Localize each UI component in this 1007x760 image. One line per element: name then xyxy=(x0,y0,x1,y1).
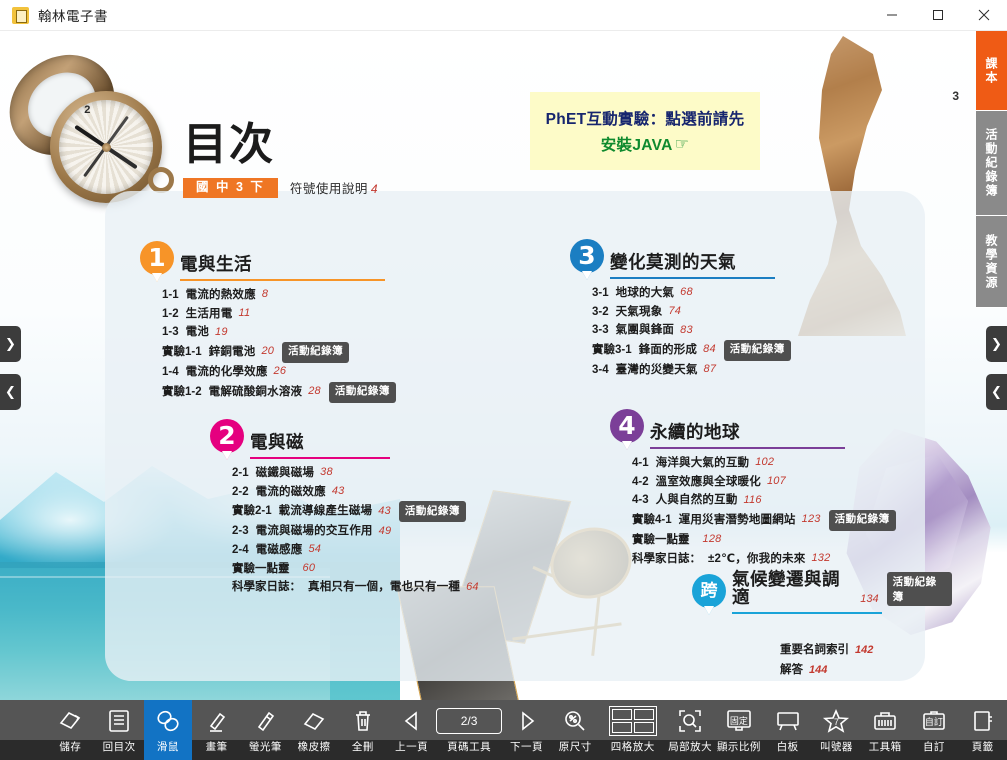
toc-entry-number: 4-1 xyxy=(632,454,649,473)
toc-entry[interactable]: 2-4電磁感應54 xyxy=(232,541,540,560)
chapter-heading: 3變化莫測的天氣 xyxy=(570,239,870,273)
toolbar-button-display-ratio[interactable]: 固定顯示比例 xyxy=(715,700,764,760)
toolbar-button-bookmark-tab[interactable]: 頁籤 xyxy=(958,700,1007,760)
toc-entry-number: 1-2 xyxy=(162,305,179,324)
toc-entry-page: 28 xyxy=(308,383,321,401)
toc-entry-title: 磁鐵與磁場 xyxy=(256,464,315,483)
toc-entry[interactable]: 3-3氣團與鋒面83 xyxy=(592,321,870,340)
toc-entry-title: 地球的大氣 xyxy=(616,284,675,303)
bottom-toolbar: 儲存回目次滑鼠畫筆螢光筆橡皮擦全刪上一頁2/3頁碼工具下一頁原尺寸四格放大局部放… xyxy=(0,700,1007,760)
chapter-number-badge: 2 xyxy=(210,419,244,453)
toc-entry-number: 科學家日誌： xyxy=(632,550,701,569)
toc-entry[interactable]: 實驗4-1運用災害潛勢地圖網站123活動紀錄簿 xyxy=(632,510,940,531)
display-ratio-icon: 固定 xyxy=(725,706,753,736)
toc-entry-page: 87 xyxy=(704,361,717,379)
toolbar-label: 回目次 xyxy=(103,739,136,754)
toc-entry-title: 重要名詞索引 xyxy=(780,644,849,656)
side-tab-2[interactable]: 活動紀錄簿 xyxy=(976,111,1007,216)
activity-record-badge[interactable]: 活動紀錄簿 xyxy=(329,382,396,403)
toc-entry-number: 4-3 xyxy=(632,491,649,510)
toc-entry[interactable]: 3-1地球的大氣68 xyxy=(592,284,870,303)
left-next-tab[interactable]: ❯ xyxy=(0,326,21,362)
highlighter-icon xyxy=(253,706,277,736)
custom-value: 自訂 xyxy=(925,715,943,728)
toc-entry-number: 4-2 xyxy=(632,473,649,492)
toc-entry-page: 8 xyxy=(262,286,268,304)
toolbar-button-number-caller[interactable]: 7叫號器 xyxy=(812,700,861,760)
side-tab-1[interactable]: 課本 xyxy=(976,31,1007,111)
toc-entry-number: 2-2 xyxy=(232,483,249,502)
activity-record-badge[interactable]: 活動紀錄簿 xyxy=(399,501,466,522)
toc-entry[interactable]: 實驗一點靈128 xyxy=(632,531,940,550)
toolbar-button-pen[interactable]: 畫筆 xyxy=(192,700,241,760)
side-tab-rail: 課本活動紀錄簿教學資源 xyxy=(976,31,1007,308)
trash-icon xyxy=(352,706,374,736)
toolbar-button-highlighter[interactable]: 螢光筆 xyxy=(241,700,290,760)
toc-entry-page: 43 xyxy=(332,483,345,501)
toc-entry[interactable]: 1-3電池19 xyxy=(162,323,440,342)
app-title: 翰林電子書 xyxy=(38,5,108,25)
chapter-title: 永續的地球 xyxy=(650,424,740,444)
app-icon xyxy=(12,7,29,24)
toolbar-label: 工具箱 xyxy=(869,739,902,754)
toolbar-label: 白板 xyxy=(777,739,799,754)
toc-entry-number: 2-3 xyxy=(232,522,249,541)
chapter-block-1[interactable]: 1電與生活1-1電流的熱效應81-2生活用電111-3電池19實驗1-1鋅銅電池… xyxy=(140,241,440,403)
bookmark-tab-icon xyxy=(971,706,995,736)
chapter-item-list: 2-1磁鐵與磁場382-2電流的磁效應43實驗2-1載流導線產生磁場43活動紀錄… xyxy=(232,464,540,597)
prev-page-icon xyxy=(400,706,424,736)
toc-entry-page: 74 xyxy=(668,303,681,321)
toc-entry[interactable]: 4-2溫室效應與全球暖化107 xyxy=(632,473,940,492)
toc-entry-title: 電流與磁場的交互作用 xyxy=(256,522,373,541)
badge-pointer xyxy=(622,441,632,450)
toc-entry[interactable]: 1-2生活用電11 xyxy=(162,305,440,324)
toc-entry[interactable]: 重要名詞索引142 xyxy=(780,641,873,661)
toc-entry-title: 電解硫酸銅水溶液 xyxy=(209,383,303,402)
toc-entry-number: 2-1 xyxy=(232,464,249,483)
display-ratio-value: 固定 xyxy=(730,714,748,727)
chapter-item-list: 3-1地球的大氣683-2天氣現象743-3氣團與鋒面83實驗3-1鋒面的形成8… xyxy=(592,284,870,380)
toc-entry-page: 19 xyxy=(215,324,228,342)
toolbar-label: 全刪 xyxy=(352,739,374,754)
toc-entry-title: 電磁感應 xyxy=(256,541,303,560)
toc-entry-page: 132 xyxy=(811,550,830,568)
chapter-heading: 4永續的地球 xyxy=(610,409,940,443)
toc-entry[interactable]: 解答144 xyxy=(780,661,873,681)
toc-entry[interactable]: 4-3人與自然的互動116 xyxy=(632,491,940,510)
toolbar-button-custom[interactable]: 自訂自訂 xyxy=(910,700,959,760)
toc-entry-title: 鋅銅電池 xyxy=(209,343,256,362)
chapter-item-list: 4-1海洋與大氣的互動1024-2溫室效應與全球暖化1074-3人與自然的互動1… xyxy=(632,454,940,568)
toc-entry[interactable]: 2-1磁鐵與磁場38 xyxy=(232,464,540,483)
toolbar-button-contents-list[interactable]: 回目次 xyxy=(95,700,144,760)
chapter-block-4[interactable]: 4永續的地球4-1海洋與大氣的互動1024-2溫室效應與全球暖化1074-3人與… xyxy=(610,409,940,568)
cross-unit-title: 氣候變遷與調適 xyxy=(732,571,854,608)
toc-entry[interactable]: 科學家日誌：±2℃，你我的未來132 xyxy=(632,550,940,569)
toc-entry-number: 實驗4-1 xyxy=(632,511,672,530)
toolbox-icon xyxy=(872,706,898,736)
cross-unit-rule xyxy=(732,612,882,614)
toc-entry-number: 實驗2-1 xyxy=(232,502,272,521)
cross-unit-block[interactable]: 跨氣候變遷與調適134活動紀錄簿 xyxy=(692,571,952,614)
toc-entry-number: 3-1 xyxy=(592,284,609,303)
cross-unit-page: 134 xyxy=(860,593,878,608)
toc-entry-page: 102 xyxy=(755,454,774,472)
save-diamond-icon xyxy=(57,706,83,736)
grade-badge: 國 中 3 下 xyxy=(183,178,278,198)
chapter-number-badge: 3 xyxy=(570,239,604,273)
toolbar-button-toolbox[interactable]: 工具箱 xyxy=(861,700,910,760)
chapter-rule xyxy=(250,457,390,459)
toc-entry-number: 3-2 xyxy=(592,303,609,322)
toc-entry-page: 20 xyxy=(261,343,274,361)
phet-note-line2-text: 安裝JAVA xyxy=(601,133,673,155)
toc-entry-title: 電流的磁效應 xyxy=(256,483,326,502)
toc-entry-number: 實驗1-2 xyxy=(162,383,202,402)
toc-entry[interactable]: 1-1電流的熱效應8 xyxy=(162,286,440,305)
pointing-hand-icon: ☞ xyxy=(675,134,690,154)
toc-entry-page: 128 xyxy=(703,531,722,549)
chapter-title: 電與磁 xyxy=(250,434,304,454)
toc-entry-page: 26 xyxy=(274,363,287,381)
toolbar-label: 頁碼工具 xyxy=(447,739,491,754)
toolbar-button-eraser[interactable]: 橡皮擦 xyxy=(290,700,339,760)
toc-entry-page: 116 xyxy=(744,492,762,510)
badge-pointer xyxy=(222,451,232,460)
toc-entry[interactable]: 實驗1-1鋅銅電池20活動紀錄簿 xyxy=(162,342,440,363)
toc-entry-number: 2-4 xyxy=(232,541,249,560)
close-button[interactable] xyxy=(961,0,1007,31)
contents-list-icon xyxy=(107,706,131,736)
toolbar-left-pad xyxy=(0,700,46,760)
toolbar-button-mouse[interactable]: 滑鼠 xyxy=(144,700,193,760)
toolbar-label: 頁籤 xyxy=(972,739,994,754)
toc-entry[interactable]: 實驗一點靈60 xyxy=(232,560,540,579)
activity-record-badge[interactable]: 活動紀錄簿 xyxy=(829,510,896,531)
toc-entry-page: 38 xyxy=(320,464,333,482)
phet-note-line1: PhET互動實驗：點選前請先 xyxy=(546,107,745,129)
toolbar-label: 螢光筆 xyxy=(249,739,282,754)
toolbar-label: 滑鼠 xyxy=(157,739,179,754)
toc-entry-number: 科學家日誌： xyxy=(232,578,301,597)
region-zoom-icon xyxy=(677,706,703,736)
activity-record-badge[interactable]: 活動紀錄簿 xyxy=(724,340,791,361)
phet-note[interactable]: PhET互動實驗：點選前請先 安裝JAVA ☞ xyxy=(530,92,760,170)
toolbar-label: 局部放大 xyxy=(668,739,712,754)
left-prev-tab[interactable]: ❮ xyxy=(0,374,21,410)
chapter-block-2[interactable]: 2電與磁2-1磁鐵與磁場382-2電流的磁效應43實驗2-1載流導線產生磁場43… xyxy=(210,419,540,597)
right-next-tab[interactable]: ❯ xyxy=(986,326,1007,362)
toc-entry-title: 海洋與大氣的互動 xyxy=(656,454,750,473)
badge-pointer xyxy=(582,271,592,280)
title-bar: 翰林電子書 xyxy=(0,0,1007,31)
whiteboard-icon xyxy=(774,706,802,736)
chapter-rule xyxy=(610,277,775,279)
toc-entry-title: 臺灣的災變天氣 xyxy=(616,361,698,380)
activity-record-badge[interactable]: 活動紀錄簿 xyxy=(282,342,349,363)
tail-items: 重要名詞索引142解答144 xyxy=(780,641,873,680)
page-indicator-value[interactable]: 2/3 xyxy=(436,708,502,734)
toc-entry-title: 人與自然的互動 xyxy=(656,491,738,510)
toc-entry-page: 43 xyxy=(378,503,391,521)
toc-entry[interactable]: 實驗2-1載流導線產生磁場43活動紀錄簿 xyxy=(232,501,540,522)
toolbar-label: 畫筆 xyxy=(206,739,228,754)
toolbar-label: 儲存 xyxy=(59,739,81,754)
toc-entry-title: ±2℃，你我的未來 xyxy=(708,550,805,569)
symbol-note-label: 符號使用說明 xyxy=(290,182,368,196)
toc-entry-title: 解答 xyxy=(780,664,803,676)
minimize-button[interactable] xyxy=(869,0,915,31)
right-prev-tab[interactable]: ❮ xyxy=(986,374,1007,410)
toc-entry-page: 11 xyxy=(238,305,250,323)
toc-entry-number: 1-1 xyxy=(162,286,179,305)
toc-entry[interactable]: 3-2天氣現象74 xyxy=(592,303,870,322)
compass-face xyxy=(59,100,153,194)
actual-size-icon xyxy=(562,706,588,736)
cross-unit-heading: 跨氣候變遷與調適134活動紀錄簿 xyxy=(692,571,952,608)
toc-entry[interactable]: 3-4臺灣的災變天氣87 xyxy=(592,361,870,380)
chapter-title: 變化莫測的天氣 xyxy=(610,254,736,274)
eraser-icon xyxy=(301,706,327,736)
toc-entry-title: 載流導線產生磁場 xyxy=(279,502,373,521)
chapter-block-3[interactable]: 3變化莫測的天氣3-1地球的大氣683-2天氣現象743-3氣團與鋒面83實驗3… xyxy=(570,239,870,380)
chapter-heading: 2電與磁 xyxy=(210,419,540,453)
page-title: 目次 xyxy=(183,123,378,167)
toc-entry-title: 電流的化學效應 xyxy=(186,363,268,382)
toc-entry[interactable]: 2-2電流的磁效應43 xyxy=(232,483,540,502)
toc-entry-page: 60 xyxy=(303,560,316,578)
badge-pointer xyxy=(704,606,714,615)
toc-entry-number: 3-4 xyxy=(592,361,609,380)
toolbar-button-region-zoom[interactable]: 局部放大 xyxy=(666,700,715,760)
number-caller-icon: 7 xyxy=(822,706,850,736)
chapter-title: 電與生活 xyxy=(180,256,252,276)
toc-entry-number: 實驗一點靈 xyxy=(632,531,690,550)
symbol-note-page: 4 xyxy=(371,182,378,196)
maximize-button[interactable] xyxy=(915,0,961,31)
toc-entry-page: 49 xyxy=(379,523,392,541)
toc-entry-title: 真相只有一個，電也只有一種 xyxy=(308,578,460,597)
toolbar-label: 四格放大 xyxy=(611,739,655,754)
toc-subheader: 國 中 3 下 符號使用說明4 xyxy=(183,178,378,198)
compass-body xyxy=(50,91,162,203)
toolbar-button-next-page[interactable]: 下一頁 xyxy=(502,700,551,760)
page-indicator: 2/3 xyxy=(436,706,502,736)
toc-header: 目次 國 中 3 下 符號使用說明4 xyxy=(183,123,378,198)
symbol-note-link[interactable]: 符號使用說明4 xyxy=(290,178,378,197)
chapter-number-badge: 1 xyxy=(140,241,174,275)
toolbar-label: 上一頁 xyxy=(395,739,428,754)
toc-entry-number: 實驗3-1 xyxy=(592,341,632,360)
toolbar-button-page-indicator[interactable]: 2/3頁碼工具 xyxy=(436,700,502,760)
chapter-rule xyxy=(650,447,845,449)
toolbar-label: 顯示比例 xyxy=(717,739,761,754)
toc-entry-title: 天氣現象 xyxy=(616,303,663,322)
ebook-reader-window: 翰林電子書 2 xyxy=(0,0,1007,760)
toc-entry[interactable]: 2-3電流與磁場的交互作用49 xyxy=(232,522,540,541)
toolbar-label: 橡皮擦 xyxy=(298,739,331,754)
toc-entry-page: 84 xyxy=(703,341,716,359)
toc-entry-page: 144 xyxy=(809,664,827,676)
custom-icon: 自訂 xyxy=(921,706,947,736)
chapter-heading: 1電與生活 xyxy=(140,241,440,275)
toc-entry[interactable]: 1-4電流的化學效應26 xyxy=(162,363,440,382)
toc-entry[interactable]: 科學家日誌：真相只有一個，電也只有一種64 xyxy=(232,578,540,597)
toolbar-label: 原尺寸 xyxy=(559,739,592,754)
badge-pointer xyxy=(152,273,162,282)
compass-lid-number: 2 xyxy=(84,104,90,116)
mouse-icon xyxy=(154,706,182,736)
toc-entry[interactable]: 4-1海洋與大氣的互動102 xyxy=(632,454,940,473)
chapter-item-list: 1-1電流的熱效應81-2生活用電111-3電池19實驗1-1鋅銅電池20活動紀… xyxy=(162,286,440,403)
toolbar-button-save-diamond[interactable]: 儲存 xyxy=(46,700,95,760)
toc-entry-page: 68 xyxy=(680,284,693,302)
toc-entry-number: 3-3 xyxy=(592,321,609,340)
cross-unit-badge: 跨 xyxy=(692,574,726,608)
toc-entry-title: 運用災害潛勢地圖網站 xyxy=(679,511,796,530)
toc-entry-title: 電池 xyxy=(186,323,209,342)
next-page-icon xyxy=(515,706,539,736)
number-caller-value: 7 xyxy=(834,717,839,727)
toolbar-label: 叫號器 xyxy=(820,739,853,754)
toolbar-button-trash[interactable]: 全刪 xyxy=(339,700,388,760)
toc-entry-page: 64 xyxy=(466,579,479,597)
toc-entry-page: 123 xyxy=(802,511,821,529)
toc-entry-title: 溫室效應與全球暖化 xyxy=(656,473,761,492)
four-pane-grid xyxy=(609,706,657,736)
toc-entry-page: 83 xyxy=(680,322,693,340)
page-number: 3 xyxy=(952,89,959,103)
chapter-rule xyxy=(180,279,385,281)
phet-note-line2: 安裝JAVA ☞ xyxy=(601,133,690,155)
compass-pin xyxy=(102,143,111,152)
toc-entry-title: 氣團與鋒面 xyxy=(616,321,675,340)
toc-entry-page: 142 xyxy=(855,644,873,656)
page-canvas[interactable]: 2 目次 國 中 3 下 xyxy=(0,31,1007,700)
compass-ring xyxy=(148,167,174,193)
toc-entry-page: 54 xyxy=(308,541,321,559)
toolbar-button-four-pane-zoom[interactable]: 四格放大 xyxy=(600,700,666,760)
toc-entry-page: 107 xyxy=(767,473,786,491)
activity-record-badge[interactable]: 活動紀錄簿 xyxy=(887,572,952,606)
pen-icon xyxy=(205,706,229,736)
toolbar-label: 下一頁 xyxy=(510,739,543,754)
window-controls xyxy=(869,0,1007,31)
toc-entry-title: 鋒面的形成 xyxy=(639,341,698,360)
toolbar-button-prev-page[interactable]: 上一頁 xyxy=(387,700,436,760)
toolbar-label: 自訂 xyxy=(923,739,945,754)
four-pane-zoom-icon xyxy=(609,706,657,736)
side-tab-3[interactable]: 教學資源 xyxy=(976,216,1007,308)
toc-entry-title: 生活用電 xyxy=(186,305,233,324)
toc-entry[interactable]: 實驗3-1鋒面的形成84活動紀錄簿 xyxy=(592,340,870,361)
toolbar-button-whiteboard[interactable]: 白板 xyxy=(763,700,812,760)
chapter-number-badge: 4 xyxy=(610,409,644,443)
toc-entry-number: 1-3 xyxy=(162,323,179,342)
toc-entry-title: 電流的熱效應 xyxy=(186,286,256,305)
toc-entry-number: 實驗一點靈 xyxy=(232,560,290,579)
toc-entry[interactable]: 實驗1-2電解硫酸銅水溶液28活動紀錄簿 xyxy=(162,382,440,403)
toc-entry-number: 實驗1-1 xyxy=(162,343,202,362)
toc-entry-number: 1-4 xyxy=(162,363,179,382)
toolbar-button-actual-size[interactable]: 原尺寸 xyxy=(551,700,600,760)
